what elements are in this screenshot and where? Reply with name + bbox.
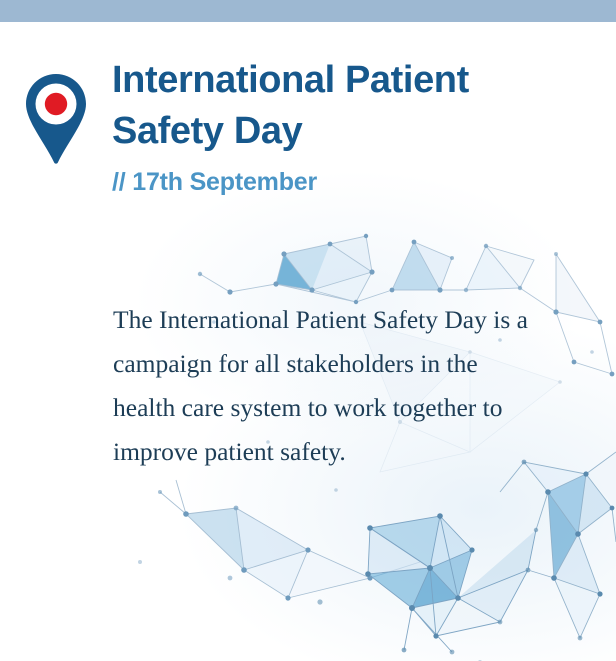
poster-header: International PatientSafety Day // 17th … xyxy=(0,55,616,197)
top-accent-band xyxy=(0,0,616,22)
title-block: International PatientSafety Day // 17th … xyxy=(112,55,616,197)
poster-canvas: International PatientSafety Day // 17th … xyxy=(0,0,616,661)
page-subtitle: // 17th September xyxy=(112,168,586,197)
page-title-line-1: International Patient xyxy=(112,59,469,101)
page-title: International PatientSafety Day xyxy=(112,55,586,156)
map-pin-icon xyxy=(25,73,87,165)
description-paragraph: The International Patient Safety Day is … xyxy=(113,298,543,473)
logo-wrap xyxy=(0,55,112,165)
page-title-line-2: Safety Day xyxy=(112,110,302,152)
